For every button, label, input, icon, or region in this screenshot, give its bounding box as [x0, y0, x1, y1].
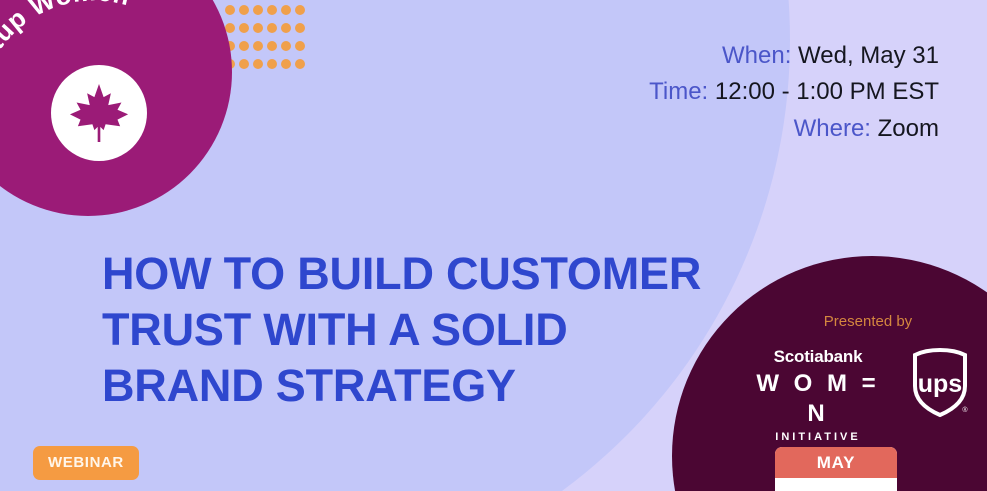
- page-title: HOW TO BUILD CUSTOMER TRUST WITH A SOLID…: [102, 246, 722, 413]
- initiative-wordmark: INITIATIVE: [748, 431, 888, 444]
- dot: [295, 23, 305, 33]
- dot: [239, 41, 249, 51]
- dot: [295, 41, 305, 51]
- maple-leaf-icon: [66, 80, 132, 146]
- dot: [281, 41, 291, 51]
- calendar-month-header: MAY: [775, 447, 897, 478]
- headline-line-3: BRAND STRATEGY: [102, 358, 722, 414]
- orange-dot-grid-decoration: [225, 5, 309, 77]
- dot: [267, 59, 277, 69]
- dot: [253, 23, 263, 33]
- dot: [281, 59, 291, 69]
- dot: [239, 59, 249, 69]
- dot: [253, 59, 263, 69]
- ups-logo: ups ®: [908, 346, 972, 418]
- scotiabank-wordmark: Scotiabank: [748, 348, 888, 367]
- event-line-time: Time: 12:00 - 1:00 PM EST: [649, 74, 939, 110]
- event-label-time: Time:: [649, 78, 708, 105]
- dot: [281, 23, 291, 33]
- calendar-widget: MAY: [775, 447, 897, 491]
- event-details-block: When: Wed, May 31 Time: 12:00 - 1:00 PM …: [649, 38, 939, 147]
- event-value-time: 12:00 - 1:00 PM EST: [715, 78, 939, 105]
- calendar-body: [775, 478, 897, 491]
- presented-by-label: Presented by: [788, 313, 948, 330]
- dot: [295, 59, 305, 69]
- dot: [253, 5, 263, 15]
- dot: [239, 5, 249, 15]
- ups-wordmark: ups: [918, 370, 962, 398]
- dot: [267, 41, 277, 51]
- event-value-when: Wed, May 31: [798, 42, 939, 69]
- dot: [281, 5, 291, 15]
- dot: [225, 5, 235, 15]
- dot: [267, 5, 277, 15]
- event-line-where: Where: Zoom: [649, 111, 939, 147]
- webinar-promo-poster: Startup Women When: Wed, May 31 Time: 12…: [0, 0, 987, 491]
- event-label-when: When:: [722, 42, 791, 69]
- status-badge-webinar: WEBINAR: [33, 446, 139, 480]
- dot: [295, 5, 305, 15]
- event-value-where: Zoom: [878, 115, 939, 142]
- headline-line-1: HOW TO BUILD CUSTOMER: [102, 246, 722, 302]
- dot: [239, 23, 249, 33]
- dot: [267, 23, 277, 33]
- dot: [225, 23, 235, 33]
- women-wordmark: W O M = N: [748, 369, 888, 429]
- scotiabank-women-initiative-logo: Scotiabank W O M = N INITIATIVE: [748, 348, 888, 444]
- event-label-where: Where:: [794, 115, 871, 142]
- event-line-when: When: Wed, May 31: [649, 38, 939, 74]
- ups-trademark-icon: ®: [962, 406, 968, 414]
- maple-leaf-disc: [51, 65, 147, 161]
- headline-line-2: TRUST WITH A SOLID: [102, 302, 722, 358]
- dot: [253, 41, 263, 51]
